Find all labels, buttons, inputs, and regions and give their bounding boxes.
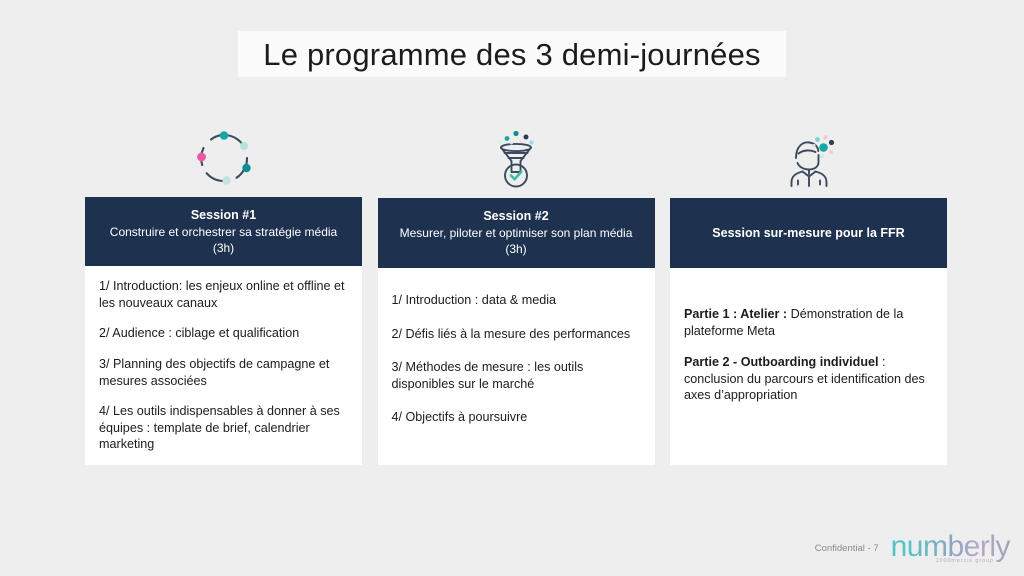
list-item: 4/ Les outils indispensables à donner à … [99,403,348,453]
funnel-check-icon [378,120,655,198]
person-ideas-icon [670,120,947,198]
list-item: 3/ Méthodes de mesure : les outils dispo… [392,359,641,392]
session-column-3: Session sur-mesure pour la FFR Partie 1 … [670,120,947,465]
dotted-circle-icon [85,120,362,197]
list-item: 2/ Audience : ciblage et qualification [99,325,348,342]
session-column-2: Session #2 Mesurer, piloter et optimiser… [378,120,655,465]
list-item: 1/ Introduction : data & media [392,292,641,309]
session-title-3: Session sur-mesure pour la FFR [712,225,904,242]
list-item: 3/ Planning des objectifs de campagne et… [99,356,348,389]
logo-wordmark: numberly [891,532,1010,562]
session-header-1: Session #1 Construire et orchestrer sa s… [85,197,362,266]
list-item: Partie 2 - Outboarding individuel : conc… [684,354,933,404]
list-item: 4/ Objectifs à poursuivre [392,409,641,426]
confidential-label: Confidential - 7 [815,543,879,564]
session-title-2: Session #2 [483,208,548,225]
session-body-3: Partie 1 : Atelier : Démonstration de la… [670,268,947,465]
list-item: Partie 1 : Atelier : Démonstration de la… [684,306,933,339]
slide-footer: Confidential - 7 numberly 1000mercis gro… [815,532,1010,565]
session-header-2: Session #2 Mesurer, piloter et optimiser… [378,198,655,268]
session-columns: Session #1 Construire et orchestrer sa s… [85,120,947,465]
slide-canvas: Le programme des 3 demi-journées [0,0,1024,576]
session-header-3: Session sur-mesure pour la FFR [670,198,947,268]
session-subtitle-1: Construire et orchestrer sa stratégie mé… [99,224,348,256]
list-item-emphasis: Partie 2 - Outboarding individuel [684,355,879,369]
session-body-1: 1/ Introduction: les enjeux online et of… [85,266,362,465]
page-title: Le programme des 3 demi-journées [263,39,760,70]
list-item: 1/ Introduction: les enjeux online et of… [99,278,348,311]
session-body-2: 1/ Introduction : data & media 2/ Défis … [378,268,655,465]
list-item: 2/ Défis liés à la mesure des performanc… [392,326,641,343]
numberly-logo: numberly 1000mercis group [891,532,1010,565]
session-subtitle-2: Mesurer, piloter et optimiser son plan m… [392,225,641,257]
page-title-band: Le programme des 3 demi-journées [238,31,786,77]
session-column-1: Session #1 Construire et orchestrer sa s… [85,120,362,465]
session-title-1: Session #1 [191,207,256,224]
list-item-emphasis: Partie 1 : Atelier : [684,307,787,321]
